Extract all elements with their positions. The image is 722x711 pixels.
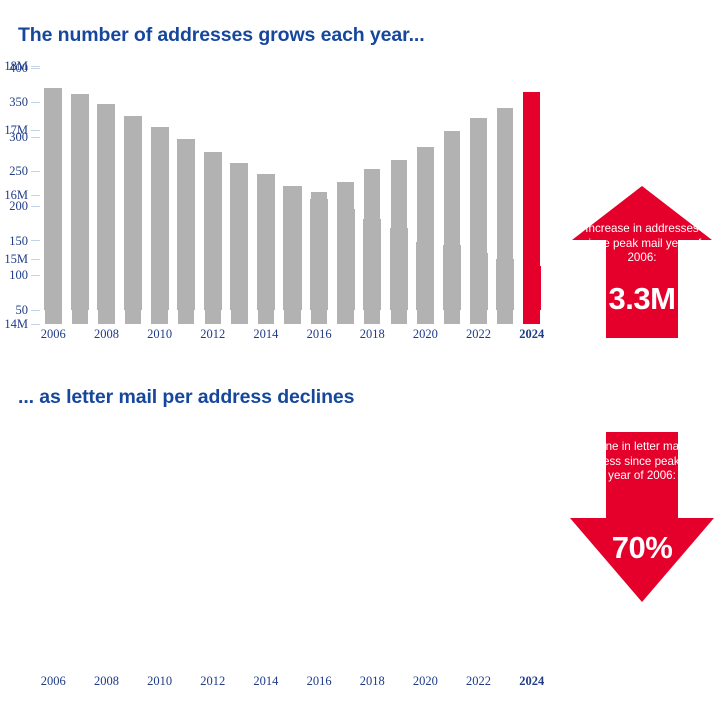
y-tick-mark <box>31 137 40 138</box>
bar-2008 <box>97 104 115 310</box>
y-tick-label: 250 <box>9 165 28 178</box>
x-tick-label-2010: 2010 <box>147 674 172 689</box>
bar-2007 <box>71 94 89 310</box>
callout-increase-text: Increase in addresses since peak mail ye… <box>572 222 712 266</box>
bar-2017 <box>337 209 355 310</box>
bar-2016 <box>310 199 328 310</box>
x-tick-label-2020: 2020 <box>413 327 438 342</box>
x-tick-label-2024: 2024 <box>519 327 544 342</box>
y-axis-letter-mail: 50100150200250300350400 <box>0 68 40 310</box>
callout-decline-letter-mail: Decline in letter mail per address since… <box>570 432 714 602</box>
y-tick-label: 150 <box>9 235 28 248</box>
x-tick-label-2012: 2012 <box>200 674 225 689</box>
y-tick-mark <box>31 324 40 325</box>
x-axis-addresses: 2006200820102012201420162018202020222024 <box>40 327 545 349</box>
callout-decline-text: Decline in letter mail per address since… <box>570 440 714 484</box>
bar-2018 <box>363 219 381 310</box>
y-tick-mark <box>31 66 40 67</box>
x-tick-label-2022: 2022 <box>466 674 491 689</box>
callout-decline-value: 70% <box>570 530 714 566</box>
x-tick-label-2006: 2006 <box>41 327 66 342</box>
y-tick-mark <box>31 275 40 276</box>
y-tick-mark <box>31 240 40 241</box>
x-tick-label-2018: 2018 <box>360 327 385 342</box>
bar-2022 <box>470 253 488 310</box>
x-tick-label-2006: 2006 <box>41 674 66 689</box>
page-title-addresses: The number of addresses grows each year.… <box>18 24 425 47</box>
x-axis-letter-mail: 2006200820102012201420162018202020222024 <box>40 674 545 696</box>
x-tick-label-2020: 2020 <box>413 674 438 689</box>
page-title-letter-mail: ... as letter mail per address declines <box>18 386 354 409</box>
x-tick-label-2012: 2012 <box>200 327 225 342</box>
bar-chart-letter-mail <box>40 68 545 310</box>
y-tick-mark <box>31 68 40 69</box>
y-tick-mark <box>31 206 40 207</box>
bar-2012 <box>204 152 222 310</box>
bar-2011 <box>177 139 195 310</box>
y-tick-mark <box>31 102 40 103</box>
y-tick-label: 200 <box>9 200 28 213</box>
bar-2023 <box>496 259 514 310</box>
x-tick-label-2018: 2018 <box>360 674 385 689</box>
bar-2021 <box>443 245 461 310</box>
x-tick-label-2014: 2014 <box>253 327 278 342</box>
bar-2010 <box>151 127 169 310</box>
bar-2015 <box>283 186 301 310</box>
y-tick-label: 350 <box>9 96 28 109</box>
callout-increase-value: 3.3M <box>572 281 712 317</box>
callout-increase-addresses: Increase in addresses since peak mail ye… <box>572 186 712 338</box>
y-tick-label: 300 <box>9 131 28 144</box>
bar-2020 <box>416 242 434 310</box>
y-tick-label: 100 <box>9 269 28 282</box>
y-tick-label: 14M <box>4 318 28 331</box>
x-tick-label-2008: 2008 <box>94 674 119 689</box>
y-tick-mark <box>31 171 40 172</box>
x-tick-label-2010: 2010 <box>147 327 172 342</box>
bar-2009 <box>124 116 142 310</box>
x-tick-label-2016: 2016 <box>307 327 332 342</box>
bar-2024 <box>523 266 541 310</box>
x-tick-label-2024: 2024 <box>519 674 544 689</box>
y-tick-mark <box>31 310 40 311</box>
y-tick-label: 50 <box>16 304 29 317</box>
x-tick-label-2022: 2022 <box>466 327 491 342</box>
bar-2014 <box>257 174 275 310</box>
x-tick-label-2008: 2008 <box>94 327 119 342</box>
x-tick-label-2014: 2014 <box>253 674 278 689</box>
bar-2013 <box>230 163 248 310</box>
x-tick-label-2016: 2016 <box>307 674 332 689</box>
bar-2019 <box>390 228 408 310</box>
bar-2006 <box>44 88 62 310</box>
y-tick-label: 400 <box>9 62 28 75</box>
